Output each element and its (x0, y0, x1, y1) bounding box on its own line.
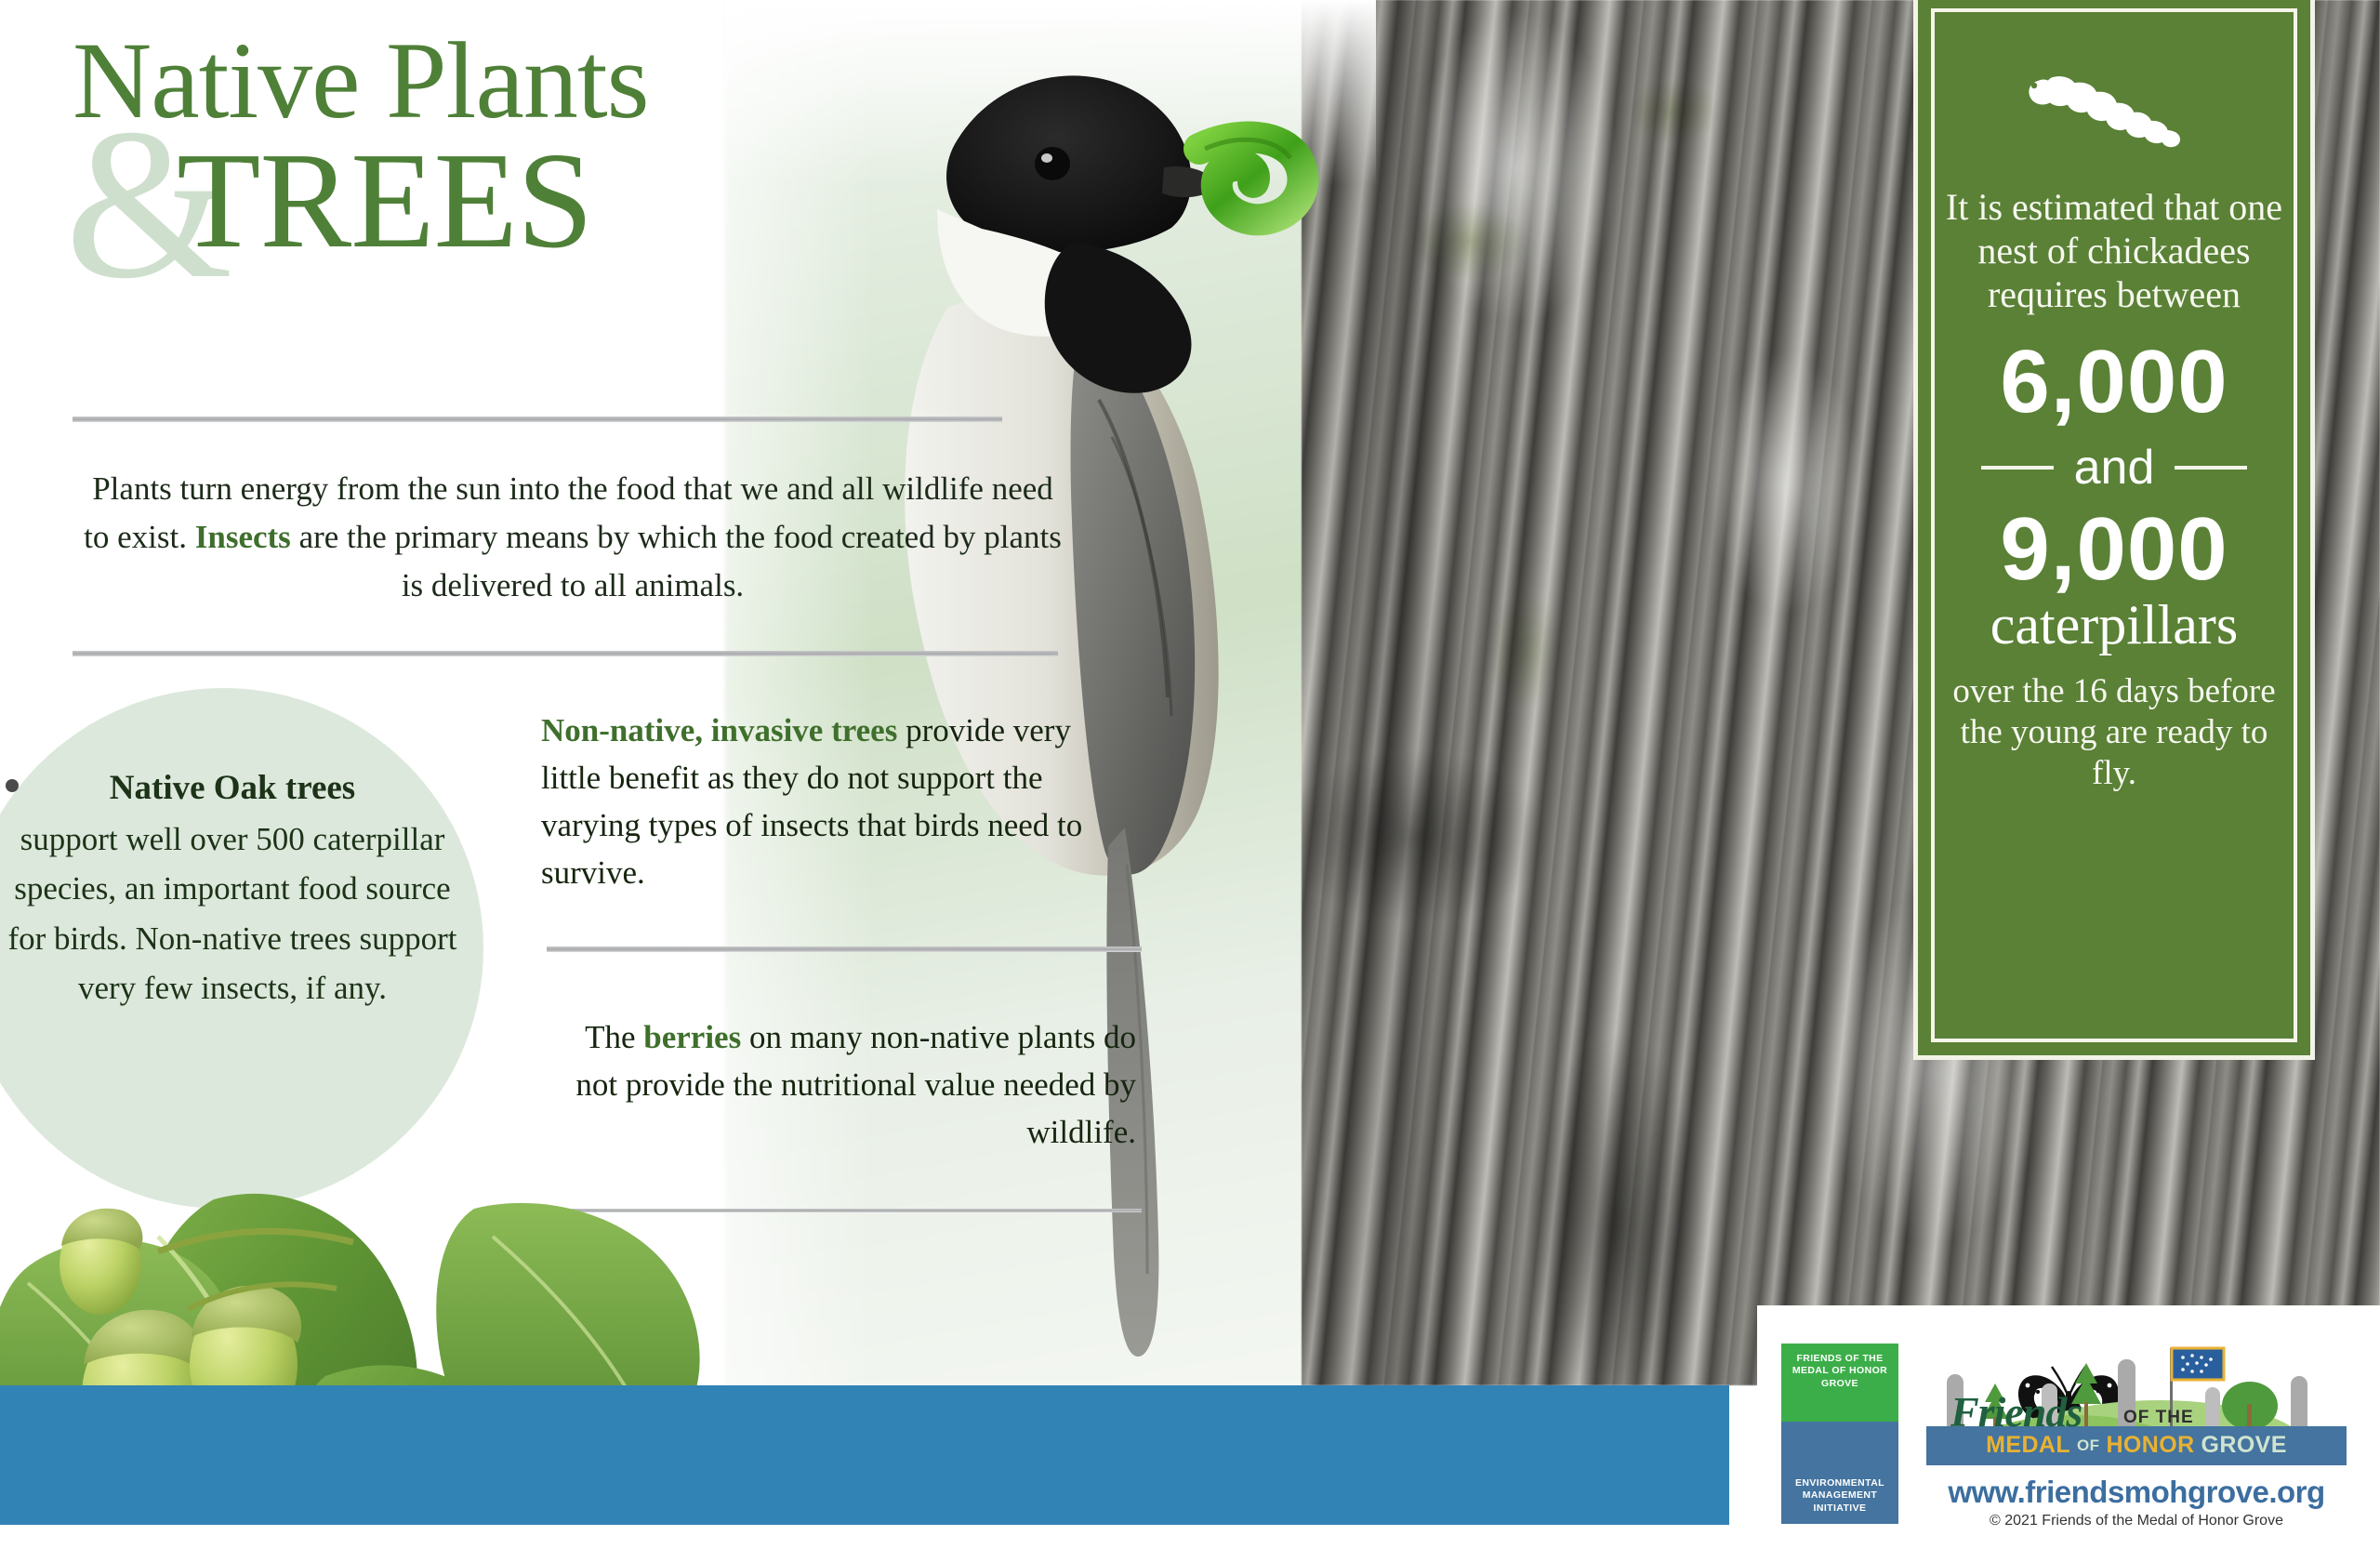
mohg-of-the-label: OF THE (2123, 1408, 2194, 1428)
emi-sub-line-1: ENVIRONMENTAL (1795, 1477, 1884, 1489)
berries-text-before: The (585, 1019, 643, 1055)
emi-sub-line-2: MANAGEMENT INITIATIVE (1803, 1489, 1877, 1513)
mohg-copyright: © 2021 Friends of the Medal of Honor Gro… (1926, 1513, 2347, 1529)
fact-number-low: 6,000 (2000, 338, 2228, 427)
caterpillar-icon (2021, 62, 2207, 148)
blue-footer-bar (0, 1385, 1729, 1525)
infographic-canvas: Native Plants & TREES Plants turn energy… (0, 0, 2380, 1562)
page-title: Native Plants & TREES (73, 26, 1039, 277)
fact-panel-inner-border: It is estimated that one nest of chickad… (1931, 8, 2297, 1042)
fact-number-high: 9,000 (2000, 505, 2228, 594)
divider-under-title (73, 417, 1002, 422)
emi-title-line-1: FRIENDS OF THE (1796, 1353, 1883, 1364)
green-caterpillar-prey (1199, 138, 1302, 220)
intro-paragraph: Plants turn energy from the sun into the… (80, 465, 1065, 609)
invasive-trees-block: Non-native, invasive trees provide very … (541, 707, 1136, 896)
logo-block: FRIENDS OF THE MEDAL OF HONOR GROVE ENVI… (1757, 1305, 2380, 1562)
intro-emphasis: Insects (195, 519, 291, 555)
oak-fact-body: support well over 500 caterpillar specie… (7, 821, 456, 1006)
emi-logo[interactable]: FRIENDS OF THE MEDAL OF HONOR GROVE ENVI… (1781, 1344, 1898, 1524)
oak-fact-heading: Native Oak trees (110, 769, 355, 807)
connector-dash-right (2175, 466, 2247, 470)
oak-fact-text: Native Oak trees support well over 500 c… (0, 762, 465, 1013)
mohg-script-word: Friends (1950, 1387, 2082, 1436)
fact-unit-label: caterpillars (1990, 596, 2239, 655)
mohg-website-url[interactable]: www.friendsmohgrove.org (1926, 1475, 2347, 1510)
emi-title-line-2: MEDAL OF HONOR GROVE (1792, 1365, 1887, 1388)
mohg-logo[interactable]: Friends OF THE MEDAL OF HONOR GROVE www.… (1926, 1339, 2347, 1529)
fact-connector-row: and (1961, 440, 2268, 496)
emi-logo-bottom-band: ENVIRONMENTAL MANAGEMENT INITIATIVE (1781, 1422, 1898, 1524)
berries-emphasis: berries (643, 1019, 741, 1055)
mohg-bar-of: OF (2077, 1436, 2099, 1455)
divider-under-intro (73, 651, 1058, 656)
invasive-trees-paragraph: Non-native, invasive trees provide very … (541, 707, 1136, 896)
emi-logo-top-band: FRIENDS OF THE MEDAL OF HONOR GROVE (1781, 1344, 1898, 1422)
intro-text-part-2: are the primary means by which the food … (291, 519, 1062, 603)
fact-panel-tail-text: over the 16 days before the young are re… (1950, 671, 2278, 795)
mohg-bar-grove: GROVE (2201, 1432, 2287, 1459)
divider-between-middle-paragraphs (547, 946, 1142, 952)
fact-panel-lead-text: It is estimated that one nest of chickad… (1944, 185, 2284, 317)
chickadee-fact-panel: It is estimated that one nest of chickad… (1913, 0, 2315, 1060)
connector-dash-left (1981, 466, 2054, 470)
emi-logo-title: FRIENDS OF THE MEDAL OF HONOR GROVE (1781, 1353, 1898, 1390)
emi-logo-subtitle: ENVIRONMENTAL MANAGEMENT INITIATIVE (1781, 1477, 1898, 1515)
title-line-2: TREES (177, 132, 592, 270)
mohg-bar-honor: HONOR (2106, 1432, 2194, 1459)
invasive-trees-heading: Non-native, invasive trees (541, 712, 897, 748)
fact-connector-label: and (2074, 440, 2155, 496)
